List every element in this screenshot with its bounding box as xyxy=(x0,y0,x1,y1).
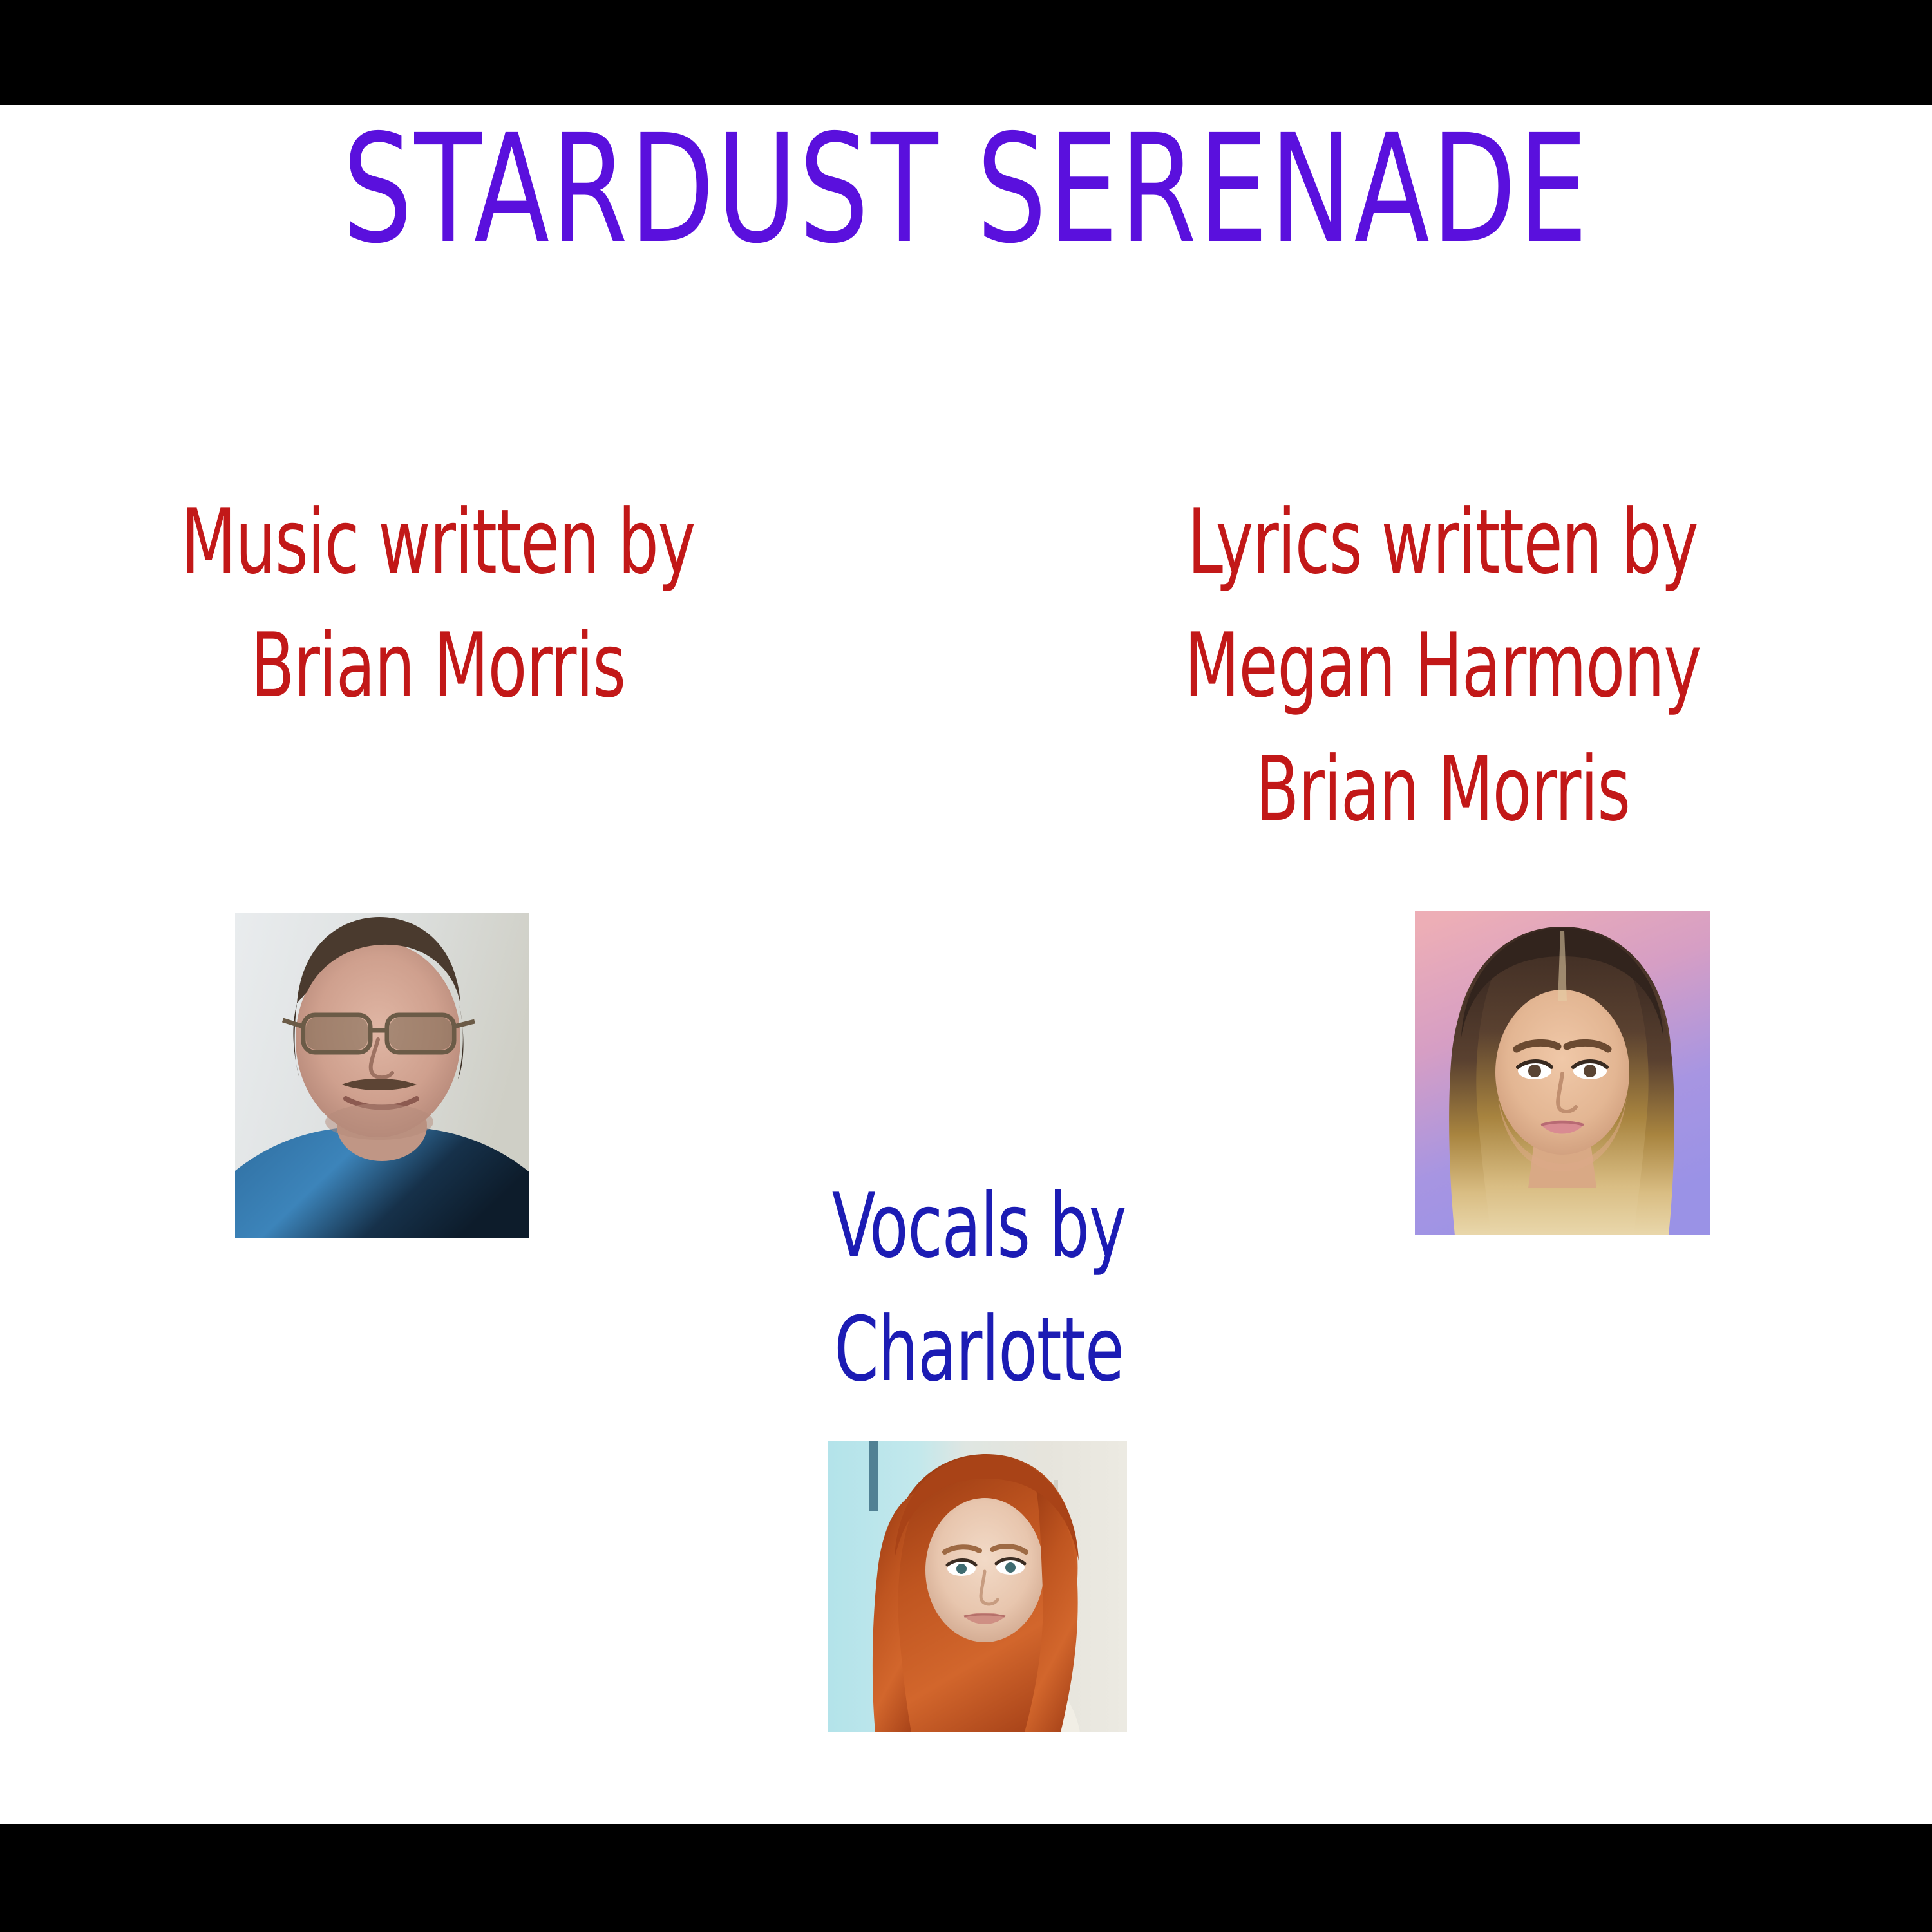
lyrics-role-label: Lyrics written by xyxy=(1123,498,1762,587)
music-credit-block: Music written by Brian Morris xyxy=(39,498,837,710)
photo-brian-morris xyxy=(235,913,529,1238)
vocals-performer-name: Charlotte xyxy=(742,1305,1216,1394)
lyrics-credit-block: Lyrics written by Megan Harmony Brian Mo… xyxy=(1043,498,1842,834)
photo-megan-harmony xyxy=(1415,911,1710,1235)
vocals-role-label: Vocals by xyxy=(742,1182,1216,1271)
letterbox-top-bar xyxy=(0,0,1932,105)
lyrics-writer-name-2: Brian Morris xyxy=(1123,745,1762,834)
letterbox-bottom-bar xyxy=(0,1824,1932,1932)
music-writer-name: Brian Morris xyxy=(118,621,757,710)
photo-brian-morris-image xyxy=(235,913,529,1238)
page-title: STARDUST SERENADE xyxy=(343,115,1589,264)
lyrics-writer-name-1: Megan Harmony xyxy=(1123,621,1762,710)
vocals-credit-block: Vocals by Charlotte xyxy=(683,1182,1275,1394)
photo-charlotte-image xyxy=(828,1441,1127,1732)
music-role-label: Music written by xyxy=(118,498,757,587)
photo-charlotte xyxy=(828,1441,1127,1732)
photo-megan-harmony-image xyxy=(1415,911,1710,1235)
slide-canvas: STARDUST SERENADE Music written by Brian… xyxy=(0,105,1932,1824)
slide-stage: STARDUST SERENADE Music written by Brian… xyxy=(0,0,1932,1932)
